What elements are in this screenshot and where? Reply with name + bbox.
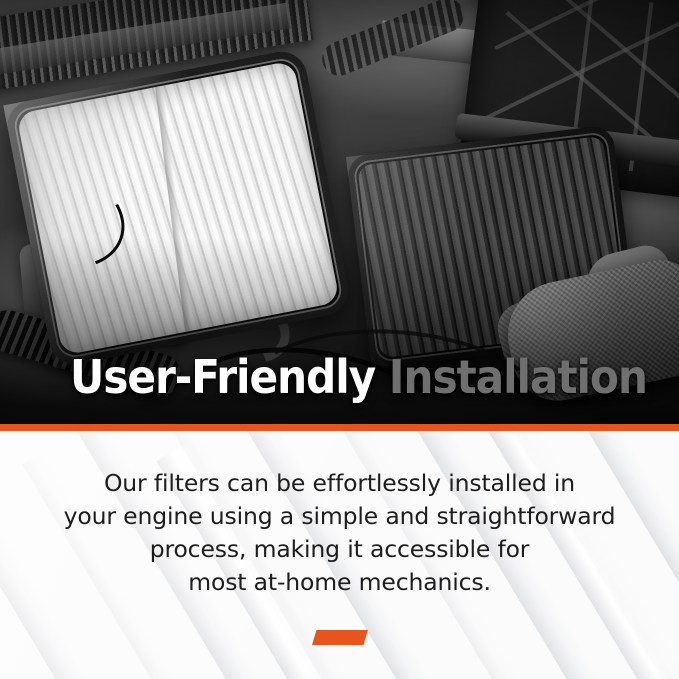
body-line-2: your engine using a simple and straightf… — [0, 500, 679, 533]
headline: User-Friendly Installation — [70, 352, 647, 402]
promo-banner-card: User-Friendly Installation Our filters c… — [0, 0, 679, 679]
description-panel: Our filters can be effortlessly installe… — [0, 431, 679, 679]
headline-accent: Installation — [389, 350, 647, 404]
body-line-3: process, making it accessible for — [0, 533, 679, 566]
body-line-1: Our filters can be effortlessly installe… — [0, 467, 679, 500]
orange-divider — [0, 424, 679, 431]
headline-primary: User-Friendly — [70, 350, 375, 404]
body-copy: Our filters can be effortlessly installe… — [0, 467, 679, 599]
orange-accent-bar — [312, 630, 368, 645]
body-line-4: most at-home mechanics. — [0, 566, 679, 599]
engine-bay-photo: User-Friendly Installation — [0, 0, 679, 424]
